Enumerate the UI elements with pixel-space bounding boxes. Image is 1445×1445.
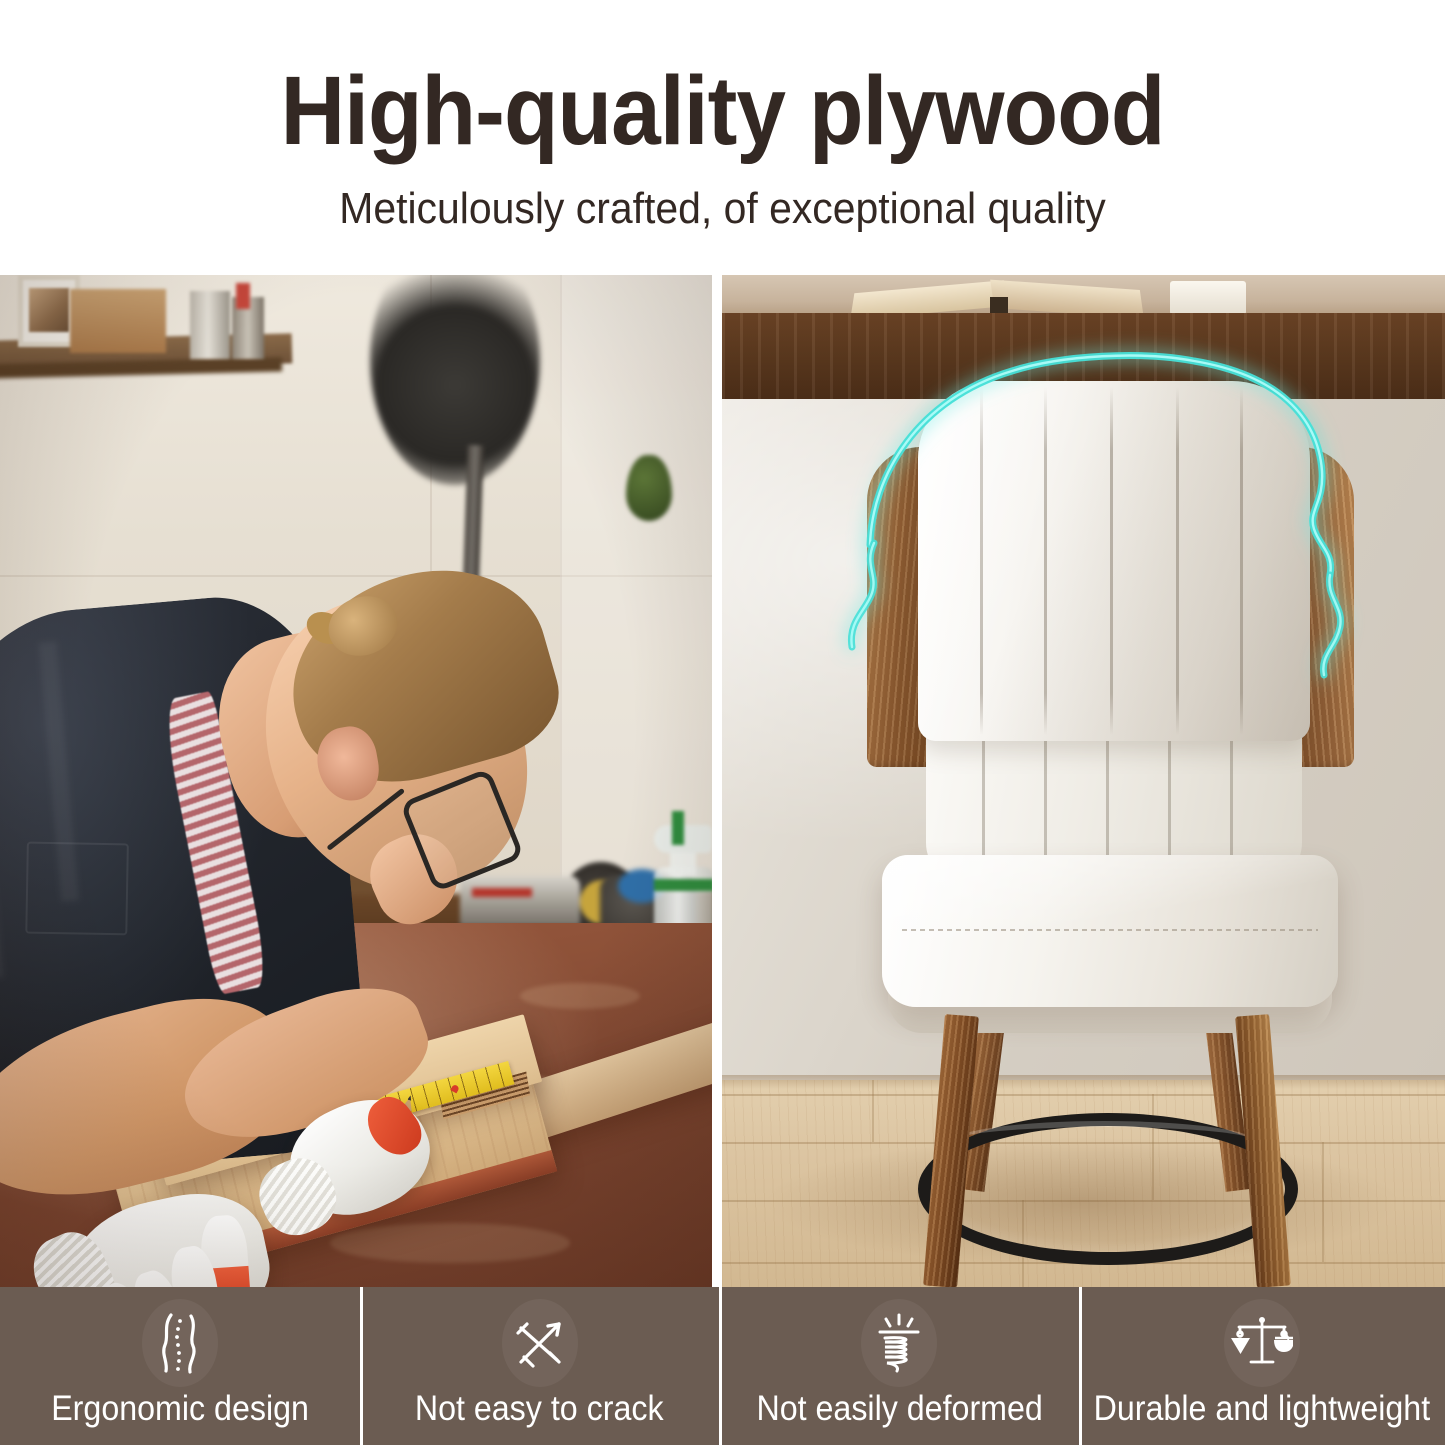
bar-stool-product-photo xyxy=(722,275,1445,1287)
feature-item-durable-and-lightweight[interactable]: Durable and lightweight xyxy=(1079,1287,1445,1445)
workshop-craftsman-photo xyxy=(0,275,712,1287)
channel-tufted-backrest xyxy=(918,381,1310,741)
feature-label: Ergonomic design xyxy=(51,1391,309,1426)
green-hanging-bag xyxy=(626,455,672,521)
crossed-arrows-icon xyxy=(512,1315,568,1371)
feature-item-not-easy-to-crack[interactable]: Not easy to crack xyxy=(360,1287,720,1445)
feature-label: Not easily deformed xyxy=(756,1391,1042,1426)
bar-stool xyxy=(722,275,1445,1287)
feature-item-ergonomic-design[interactable]: Ergonomic design xyxy=(0,1287,360,1445)
spine-curve-icon xyxy=(155,1312,205,1374)
balance-scale-icon xyxy=(1231,1314,1293,1372)
feature-label: Not easy to crack xyxy=(415,1391,664,1426)
photo-row xyxy=(0,275,1445,1287)
page-title: High-quality plywood xyxy=(58,62,1387,159)
seat-cushion xyxy=(882,855,1338,1007)
product-banner: High-quality plywood Meticulously crafte… xyxy=(0,0,1445,1445)
header: High-quality plywood Meticulously crafte… xyxy=(0,0,1445,275)
page-subtitle: Meticulously crafted, of exceptional qua… xyxy=(51,187,1395,231)
feature-bar: Ergonomic design Not easy to crack xyxy=(0,1287,1445,1445)
feature-label: Durable and lightweight xyxy=(1094,1391,1431,1426)
cardboard-box xyxy=(70,289,166,353)
feature-item-not-easily-deformed[interactable]: Not easily deformed xyxy=(719,1287,1079,1445)
coil-spring-icon xyxy=(873,1312,925,1374)
paint-can xyxy=(190,291,230,359)
